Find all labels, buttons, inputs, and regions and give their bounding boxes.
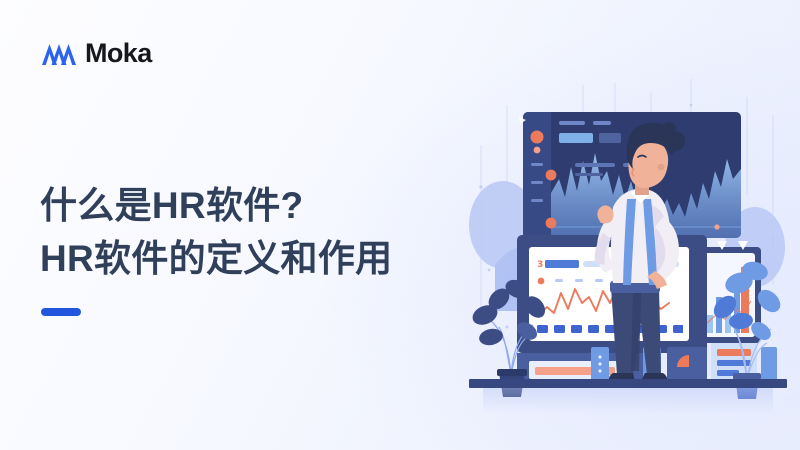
accent-bar (41, 308, 81, 316)
ground-bar (469, 379, 787, 414)
brand-wordmark: Moka (85, 40, 152, 67)
moka-mountain-mark-icon (40, 41, 76, 67)
headline-line-2: HR软件的定义和作用 (40, 233, 392, 286)
screen-badge-number: 3 (537, 260, 543, 270)
page-title: 什么是HR软件? HR软件的定义和作用 (40, 180, 392, 285)
hr-analytics-dashboard-illustration: 3 (455, 75, 800, 415)
headline-line-1: 什么是HR软件? (40, 180, 392, 233)
banner-canvas: Moka 什么是HR软件? HR软件的定义和作用 (0, 0, 800, 450)
brand-logo[interactable]: Moka (40, 40, 152, 67)
